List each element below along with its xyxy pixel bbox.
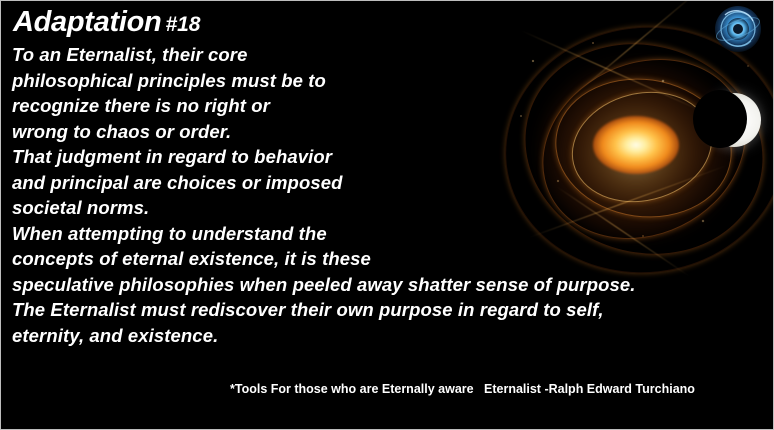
- page-title: Adaptation#18: [13, 6, 200, 39]
- title-number: #18: [165, 13, 200, 36]
- quote-line: eternity, and existence.: [12, 323, 764, 349]
- adaptation-quote-card: Adaptation#18 To an Eternalist, their co…: [0, 0, 774, 430]
- quote-line: When attempting to understand the: [12, 221, 764, 247]
- quote-line: speculative philosophies when peeled awa…: [12, 272, 764, 298]
- quote-line: To an Eternalist, their core: [12, 42, 764, 68]
- quote-line: That judgment in regard to behavior: [12, 144, 764, 170]
- quote-line: wrong to chaos or order.: [12, 119, 764, 145]
- quote-line: and principal are choices or imposed: [12, 170, 764, 196]
- quote-line: societal norms.: [12, 195, 764, 221]
- quote-body: To an Eternalist, their core philosophic…: [12, 42, 764, 348]
- title-text: Adaptation: [13, 6, 161, 38]
- quote-line: The Eternalist must rediscover their own…: [12, 297, 764, 323]
- quote-line: concepts of eternal existence, it is the…: [12, 246, 764, 272]
- quote-line: philosophical principles must be to: [12, 68, 764, 94]
- quote-line: recognize there is no right or: [12, 93, 764, 119]
- attribution-line: *Tools For those who are Eternally aware…: [230, 382, 695, 396]
